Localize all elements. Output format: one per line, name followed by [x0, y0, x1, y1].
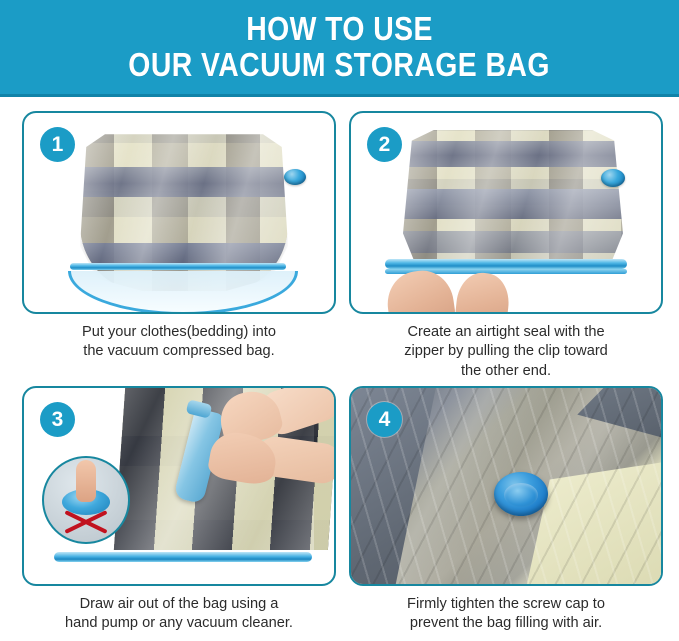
step-2-caption: Create an airtight seal with the zipper … — [349, 323, 663, 381]
step-4-caption-line-2: prevent the bag filling with air. — [349, 614, 663, 633]
step-3-image-frame: 3 — [22, 386, 336, 586]
header-title-line-2: OUR VACUUM STORAGE BAG — [129, 48, 551, 82]
step-card-1: 1 Put your clothes(bedding) into the vac… — [14, 111, 344, 362]
bag-open-bottom — [68, 271, 298, 314]
step-1-caption-line-1: Put your clothes(bedding) into — [22, 323, 336, 342]
step-number-badge-3: 3 — [40, 402, 75, 437]
air-valve-icon — [601, 169, 625, 187]
step-1-caption: Put your clothes(bedding) into the vacuu… — [22, 323, 336, 362]
step-number-badge-1: 1 — [40, 127, 75, 162]
plastic-sheen — [403, 127, 623, 279]
step-2-caption-line-3: the other end. — [349, 362, 663, 381]
step-1-caption-line-2: the vacuum compressed bag. — [22, 342, 336, 361]
step-3-caption: Draw air out of the bag using a hand pum… — [22, 595, 336, 634]
step-card-3: 3 Draw air out of the bag using a hand p… — [14, 386, 344, 634]
air-valve-icon — [284, 169, 306, 185]
steps-grid: 1 Put your clothes(bedding) into the vac… — [0, 97, 679, 641]
step-1-image-frame: 1 — [22, 111, 336, 314]
finger-pressing-valve — [76, 460, 96, 502]
step-card-2: 2 Create an airtight seal with the zippe… — [341, 111, 671, 381]
step-card-4: 4 Firmly tighten the screw cap to preven… — [341, 386, 671, 634]
hand-right — [454, 270, 511, 314]
step-2-caption-line-2: zipper by pulling the clip toward — [349, 342, 663, 361]
vacuum-bag-illustration — [403, 127, 623, 279]
step-4-caption: Firmly tighten the screw cap to prevent … — [349, 595, 663, 634]
step-2-caption-line-1: Create an airtight seal with the — [349, 323, 663, 342]
header-title-line-1: HOW TO USE — [246, 12, 433, 46]
step-3-caption-line-1: Draw air out of the bag using a — [22, 595, 336, 614]
zipper-strip — [70, 263, 286, 270]
page-header-banner: HOW TO USE OUR VACUUM STORAGE BAG — [0, 0, 679, 97]
screw-cap-icon — [494, 472, 548, 516]
red-cross-icon — [63, 507, 109, 537]
step-2-image-frame: 2 — [349, 111, 663, 314]
zipper-strip — [54, 552, 312, 562]
zipper-strip — [385, 259, 627, 269]
incorrect-usage-inset — [42, 456, 130, 544]
step-3-caption-line-2: hand pump or any vacuum cleaner. — [22, 614, 336, 633]
step-number-badge-2: 2 — [367, 127, 402, 162]
step-number-badge-4: 4 — [367, 402, 402, 437]
step-4-caption-line-1: Firmly tighten the screw cap to — [349, 595, 663, 614]
step-4-image-frame: 4 — [349, 386, 663, 586]
